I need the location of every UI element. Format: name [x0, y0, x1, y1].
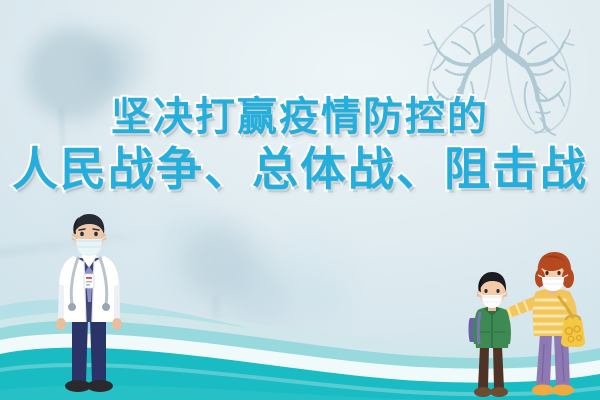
dandelion-bokeh-icon-2: [88, 34, 146, 94]
lungs-icon: [404, 0, 594, 146]
doctor-figure: [34, 210, 144, 400]
family-figures: [466, 252, 598, 400]
title-line-2: 人民战争、总体战、阻击战: [0, 145, 600, 195]
covid-prevention-poster: 坚决打赢疫情防控的 人民战争、总体战、阻击战: [0, 0, 600, 400]
dandelion-stem: [60, 108, 68, 203]
